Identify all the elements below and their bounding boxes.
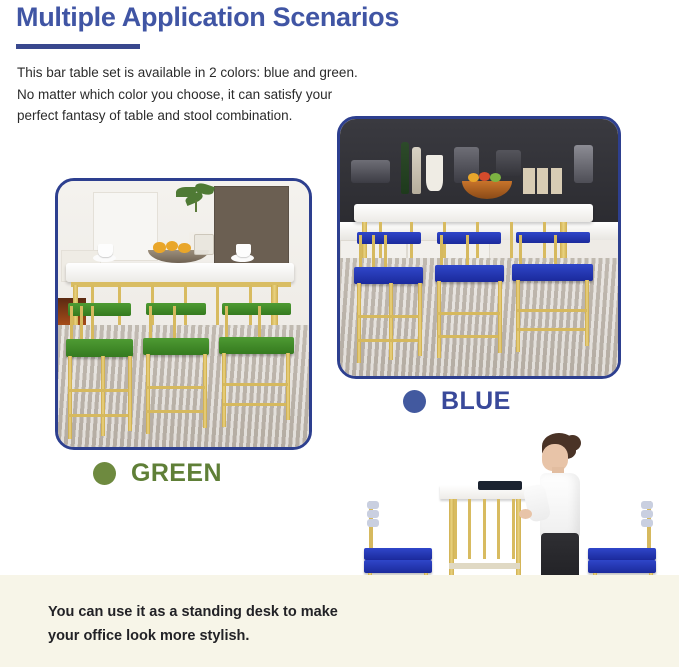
- stool-seat: [364, 548, 432, 560]
- blue-scene: [340, 119, 618, 376]
- stool-leg: [101, 356, 105, 436]
- stool-leg: [357, 283, 361, 363]
- stool-leg: [68, 356, 72, 439]
- green-swatch-dot: [93, 462, 116, 485]
- title-accent-bar: [16, 44, 140, 49]
- stool-leg: [418, 283, 422, 356]
- stool-rung: [437, 312, 500, 315]
- stool-seat: [364, 560, 432, 572]
- stool-back-post: [384, 235, 387, 270]
- intro-line-1: This bar table set is available in 2 col…: [17, 62, 437, 84]
- stool-leg: [222, 353, 226, 427]
- stool-seat: [143, 338, 208, 355]
- bar-stool-blue: [512, 232, 593, 355]
- hand: [519, 509, 532, 519]
- stool-leg: [498, 281, 502, 353]
- stool-leg: [437, 281, 441, 358]
- wine-bottle: [401, 142, 409, 193]
- stool-back-post: [91, 306, 94, 342]
- stool-back-post: [440, 235, 443, 268]
- bar-stool-green: [143, 303, 208, 436]
- stool-leg: [286, 353, 290, 419]
- stool-leg: [585, 280, 589, 345]
- bar-stool-green: [66, 303, 134, 441]
- stool-back-post: [70, 306, 73, 342]
- spice-jar: [551, 168, 562, 194]
- laptop: [478, 481, 522, 490]
- wine-bottle: [412, 147, 420, 193]
- desk-rail: [483, 499, 486, 559]
- stool-leg: [389, 283, 393, 361]
- stool-back-post: [149, 306, 152, 341]
- stool-backrest: [68, 303, 130, 315]
- stool-backrest: [222, 303, 291, 314]
- stool-seat: [354, 267, 424, 284]
- stool-back-post: [466, 235, 469, 268]
- stool-back-knob: [367, 510, 379, 518]
- stool-leg: [128, 356, 132, 431]
- color-label-green: GREEN: [93, 459, 222, 488]
- stool-back-knob: [367, 519, 379, 527]
- stool-back-post: [554, 235, 557, 267]
- stool-rung: [357, 315, 420, 318]
- stool-back-post: [519, 235, 522, 267]
- desk-rail: [512, 499, 515, 559]
- desk-rail: [468, 499, 471, 559]
- stool-rung: [146, 386, 205, 389]
- caption-line-1: You can use it as a standing desk to mak…: [48, 600, 388, 624]
- product-photo-green: [55, 178, 312, 450]
- stool-rung: [68, 389, 129, 392]
- stool-back-post: [359, 235, 362, 270]
- fruit: [479, 172, 490, 181]
- range-hood-unit: [496, 150, 521, 176]
- spice-jar: [523, 168, 534, 194]
- glass-jar: [194, 234, 214, 255]
- potted-plant: [171, 184, 226, 232]
- stool-back-post: [80, 306, 83, 342]
- stool-back-knob: [641, 519, 653, 527]
- green-scene: [58, 181, 309, 447]
- green-label-text: GREEN: [131, 459, 222, 488]
- caption-line-2: your office look more stylish.: [48, 624, 388, 648]
- stool-back-post: [258, 306, 261, 339]
- stool-back-knob: [641, 510, 653, 518]
- stool-leg: [516, 280, 520, 352]
- kettle: [574, 145, 593, 184]
- stool-seat: [512, 264, 593, 281]
- stool-rung: [517, 309, 586, 312]
- stool-back-post: [372, 235, 375, 270]
- product-photo-blue: [337, 116, 621, 379]
- intro-line-2: No matter which color you choose, it can…: [17, 84, 437, 106]
- stool-back-post: [225, 306, 228, 339]
- stool-backrest: [357, 232, 421, 244]
- blue-swatch-dot: [403, 390, 426, 413]
- fruit: [468, 173, 479, 182]
- stool-seat: [435, 265, 505, 282]
- stool-rung: [517, 328, 585, 331]
- stool-rung: [437, 335, 498, 338]
- stool-rung: [357, 339, 418, 342]
- stool-backrest: [516, 232, 590, 243]
- desk-shelf: [449, 563, 519, 569]
- stool-back-knob: [641, 501, 653, 509]
- stool-rung: [223, 383, 288, 386]
- caption-text: You can use it as a standing desk to mak…: [48, 600, 388, 648]
- spice-jar: [537, 168, 548, 194]
- stool-seat: [219, 337, 294, 355]
- hair-bun: [564, 435, 581, 451]
- stool-leg: [146, 354, 150, 434]
- stool-leg: [203, 354, 207, 428]
- stool-seat: [66, 339, 134, 357]
- coffee-cup: [236, 244, 251, 257]
- bar-stool-blue: [354, 232, 424, 366]
- stool-rung: [146, 410, 203, 413]
- blue-label-text: BLUE: [441, 387, 511, 416]
- bar-stool-green: [219, 303, 294, 431]
- pitcher: [426, 155, 443, 191]
- bar-table-apron: [71, 282, 292, 287]
- color-label-blue: BLUE: [403, 387, 511, 416]
- stool-back-post: [173, 306, 176, 341]
- desk-rail: [454, 499, 457, 559]
- coffee-cup: [98, 244, 113, 257]
- desk-rail: [497, 499, 500, 559]
- bar-stool-blue: [435, 232, 505, 361]
- fruit: [153, 242, 166, 253]
- stool-rung: [68, 414, 128, 417]
- bar-table-top: [66, 263, 294, 282]
- page-title: Multiple Application Scenarios: [16, 2, 399, 33]
- bar-table-top: [354, 204, 593, 222]
- stool-back-knob: [367, 501, 379, 509]
- stove-grate: [351, 160, 390, 183]
- stool-rung: [223, 403, 286, 406]
